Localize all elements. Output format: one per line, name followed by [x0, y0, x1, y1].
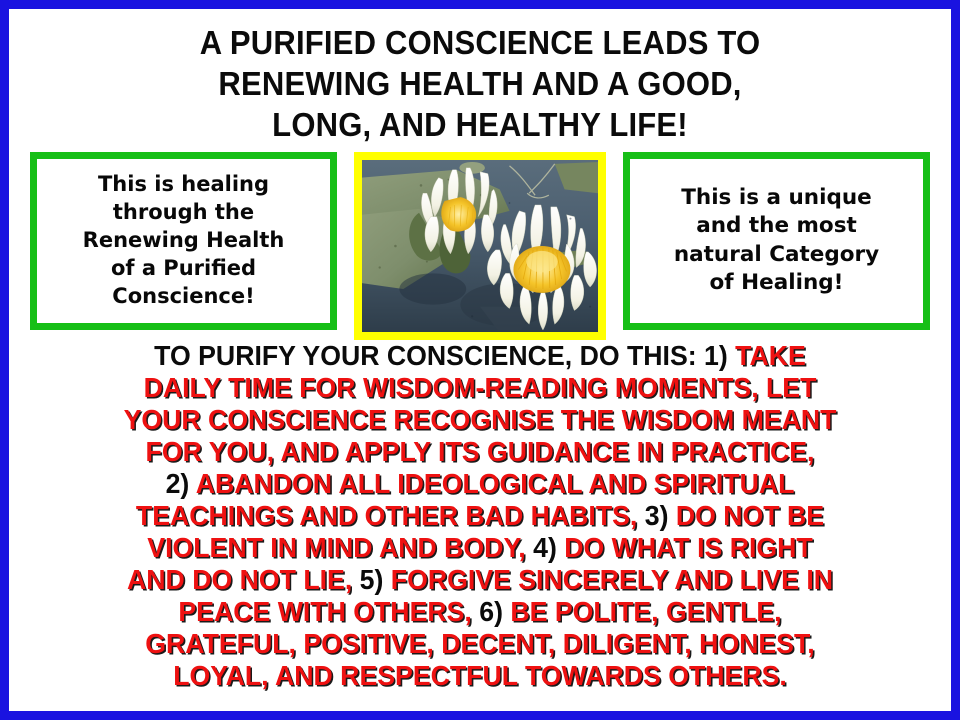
instructions-line: TEACHINGS AND OTHER BAD HABITS, 3) DO NO…: [39, 500, 922, 532]
instruction-marker: 2): [166, 468, 196, 499]
instruction-marker: 4): [533, 532, 564, 563]
instructions-line: AND DO NOT LIE, 5) FORGIVE SINCERELY AND…: [39, 564, 922, 596]
instruction-text: FORGIVE SINCERELY AND LIVE IN: [391, 564, 833, 595]
instructions-line: GRATEFUL, POSITIVE, DECENT, DILIGENT, HO…: [39, 628, 922, 660]
instruction-text: YOUR CONSCIENCE RECOGNISE THE WISDOM MEA…: [124, 404, 837, 435]
instruction-text: PEACE WITH OTHERS,: [178, 596, 479, 627]
instruction-marker: 3): [645, 500, 676, 531]
instruction-text: AND DO NOT LIE,: [127, 564, 360, 595]
instruction-marker: 5): [360, 564, 391, 595]
instructions-line: PEACE WITH OTHERS, 6) BE POLITE, GENTLE,: [39, 596, 922, 628]
instructions-paragraph: TO PURIFY YOUR CONSCIENCE, DO THIS: 1) T…: [25, 334, 935, 692]
poster-inner: A PURIFIED CONSCIENCE LEADS TO RENEWING …: [9, 9, 951, 711]
right-callout-text: This is a unique and the most natural Ca…: [674, 184, 879, 298]
middle-row: This is healing through the Renewing Hea…: [11, 152, 949, 334]
instructions-line: LOYAL, AND RESPECTFUL TOWARDS OTHERS.: [39, 660, 922, 692]
instruction-marker: 6): [479, 596, 510, 627]
instructions-line: TO PURIFY YOUR CONSCIENCE, DO THIS: 1) T…: [39, 340, 922, 372]
instruction-marker: TO PURIFY YOUR CONSCIENCE, DO THIS: 1): [154, 340, 735, 371]
page-title: A PURIFIED CONSCIENCE LEADS TO RENEWING …: [39, 11, 921, 146]
instruction-text: TAKE: [735, 340, 806, 371]
instruction-text: ABANDON ALL IDEOLOGICAL AND SPIRITUAL: [196, 468, 795, 499]
instructions-line: FOR YOU, AND APPLY ITS GUIDANCE IN PRACT…: [39, 436, 922, 468]
instruction-text: LOYAL, AND RESPECTFUL TOWARDS OTHERS.: [173, 660, 787, 691]
instructions-line: YOUR CONSCIENCE RECOGNISE THE WISDOM MEA…: [39, 404, 922, 436]
instruction-text: BE POLITE, GENTLE,: [510, 596, 781, 627]
left-green-callout-box: This is healing through the Renewing Hea…: [30, 152, 337, 330]
right-green-callout-box: This is a unique and the most natural Ca…: [623, 152, 930, 330]
water-lily-photo-frame: [354, 152, 606, 340]
instructions-line: DAILY TIME FOR WISDOM-READING MOMENTS, L…: [39, 372, 922, 404]
left-callout-text: This is healing through the Renewing Hea…: [83, 171, 285, 311]
instruction-text: GRATEFUL, POSITIVE, DECENT, DILIGENT, HO…: [145, 628, 814, 659]
instruction-text: TEACHINGS AND OTHER BAD HABITS,: [136, 500, 645, 531]
instructions-line: VIOLENT IN MIND AND BODY, 4) DO WHAT IS …: [39, 532, 922, 564]
instructions-line: 2) ABANDON ALL IDEOLOGICAL AND SPIRITUAL: [39, 468, 922, 500]
instruction-text: DO NOT BE: [676, 500, 824, 531]
instruction-text: DO WHAT IS RIGHT: [564, 532, 812, 563]
instruction-text: VIOLENT IN MIND AND BODY,: [147, 532, 533, 563]
water-lily-photo: [362, 160, 598, 332]
poster-frame: A PURIFIED CONSCIENCE LEADS TO RENEWING …: [0, 0, 960, 720]
instruction-text: DAILY TIME FOR WISDOM-READING MOMENTS, L…: [144, 372, 817, 403]
instruction-text: FOR YOU, AND APPLY ITS GUIDANCE IN PRACT…: [146, 436, 815, 467]
